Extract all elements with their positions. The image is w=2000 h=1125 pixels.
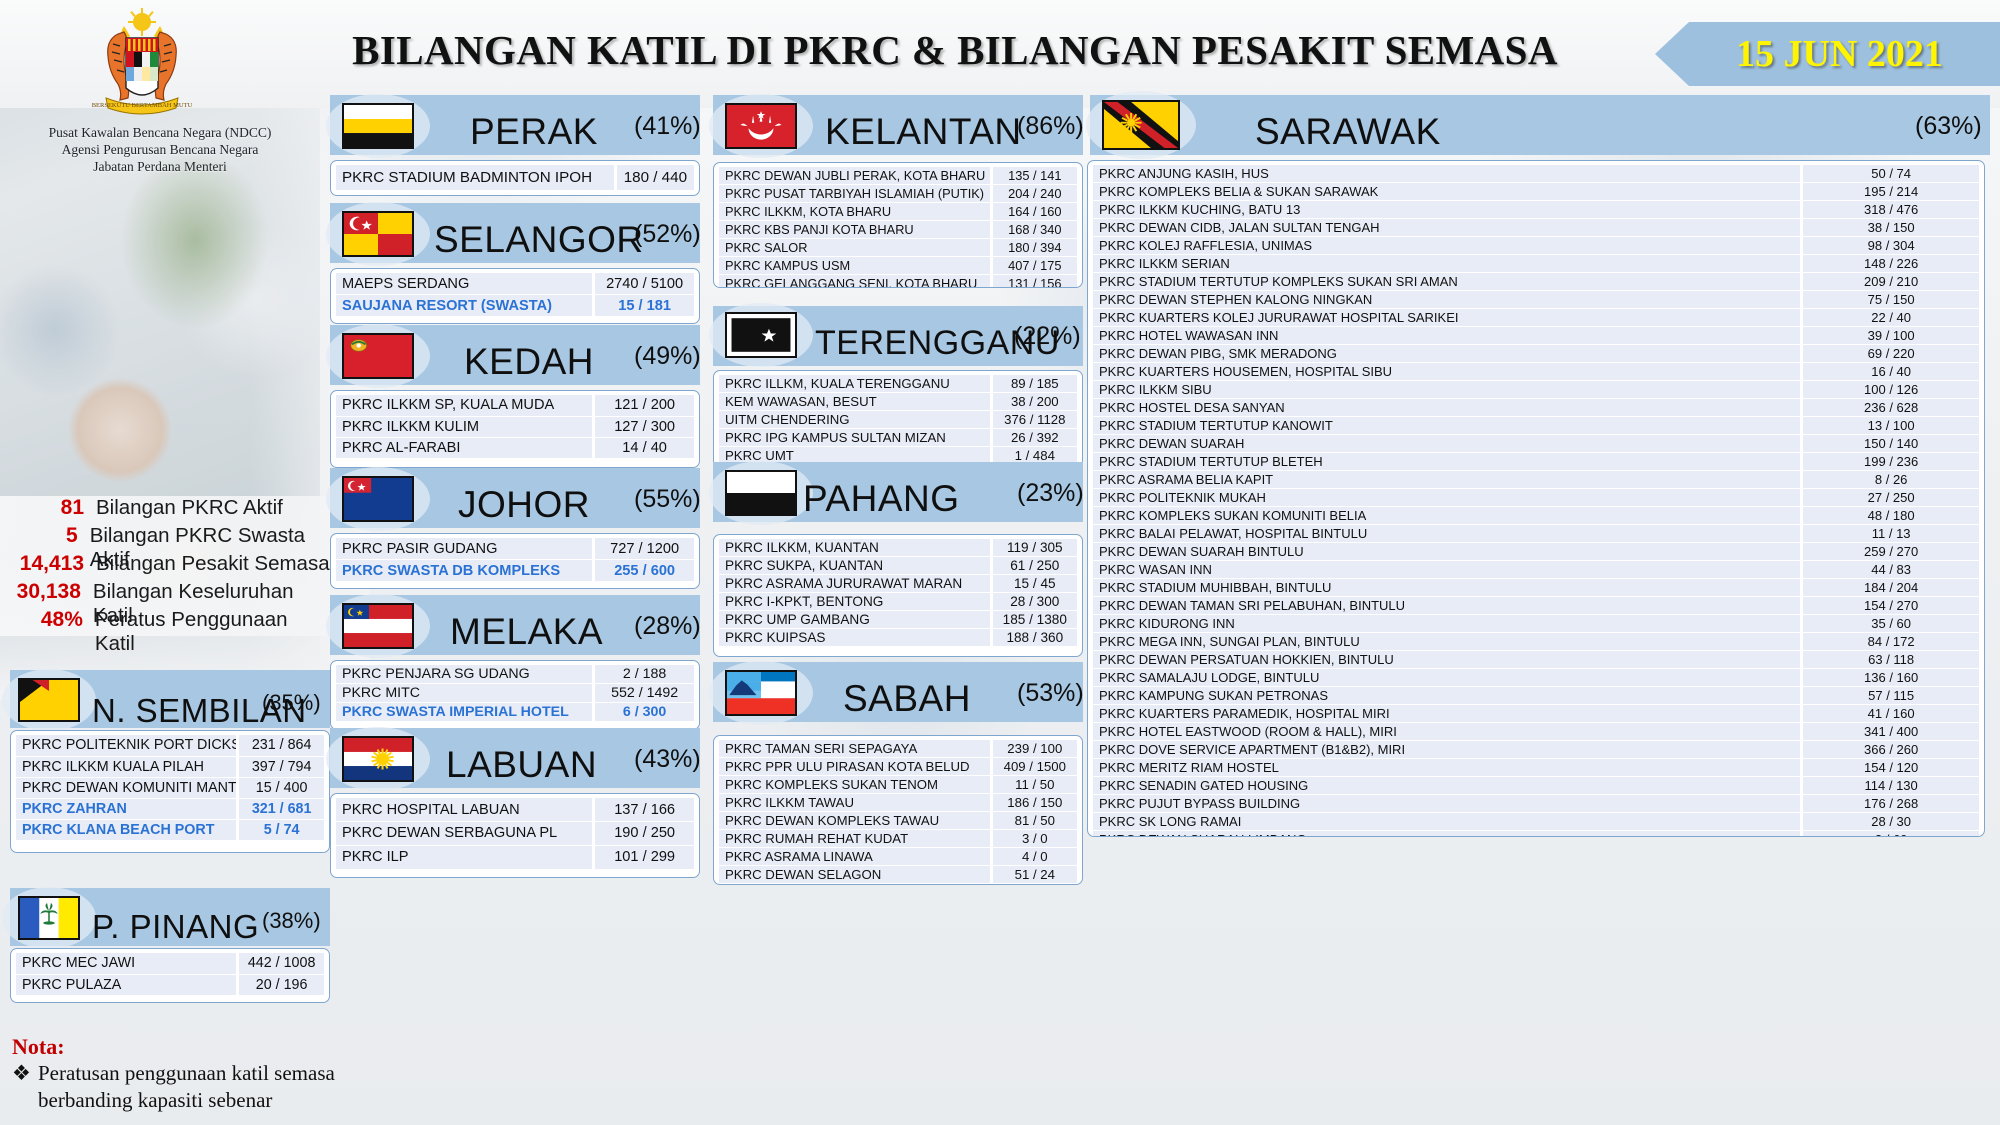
state-name-johor: JOHOR: [458, 475, 590, 535]
note-text: Peratusan penggunaan katil semasa berban…: [12, 1060, 342, 1114]
facility-name: PKRC KOMPLEKS BELIA & SUKAN SARAWAK: [1093, 183, 1802, 201]
facility-name: PKRC DEWAN KOMPLEKS TAWAU: [719, 812, 991, 830]
state-percent-selangor: (52%): [634, 220, 701, 249]
stat-row: 30,138 Bilangan Keseluruhan Katil: [0, 580, 330, 608]
facility-occupancy: 15 / 400: [238, 777, 324, 798]
facility-occupancy: 100 / 126: [1802, 381, 1979, 399]
facility-table-n_sembilan: PKRC POLITEKNIK PORT DICKSON231 / 864PKR…: [10, 730, 330, 853]
state-percent-n_sembilan: (35%): [262, 690, 321, 716]
facility-occupancy: 44 / 83: [1802, 561, 1979, 579]
table-row: PKRC BALAI PELAWAT, HOSPITAL BINTULU11 /…: [1093, 525, 1979, 543]
facility-name: PKRC MEC JAWI: [16, 953, 238, 974]
facility-name: PKRC HOTEL EASTWOOD (ROOM & HALL), MIRI: [1093, 723, 1802, 741]
facility-name: PKRC POLITEKNIK MUKAH: [1093, 489, 1802, 507]
table-row: PKRC KOMPLEKS SUKAN TENOM11 / 50: [719, 776, 1077, 794]
facility-name: SAUJANA RESORT (SWASTA): [336, 295, 594, 317]
facility-name: PKRC SK LONG RAMAI: [1093, 813, 1802, 831]
facility-name: PKRC KUARTERS HOUSEMEN, HOSPITAL SIBU: [1093, 363, 1802, 381]
facility-name: PKRC KOMPLEKS SUKAN KOMUNITI BELIA: [1093, 507, 1802, 525]
facility-occupancy: 186 / 150: [991, 794, 1077, 812]
facility-occupancy: 38 / 200: [991, 393, 1077, 411]
facility-name: PKRC ZAHRAN: [16, 798, 238, 819]
state-percent-sarawak: (63%): [1915, 112, 1982, 141]
table-row: PKRC ILKKM SERIAN148 / 226: [1093, 255, 1979, 273]
facility-occupancy: 75 / 150: [1802, 291, 1979, 309]
facility-name: PKRC ANJUNG KASIH, HUS: [1093, 165, 1802, 183]
facility-occupancy: 231 / 864: [238, 735, 324, 756]
table-row: SAUJANA RESORT (SWASTA)15 / 181: [336, 295, 694, 317]
table-row: PKRC PUJUT BYPASS BUILDING176 / 268: [1093, 795, 1979, 813]
facility-name: PKRC DEWAN TAMAN SRI PELABUHAN, BINTULU: [1093, 597, 1802, 615]
stat-value: 48%: [0, 608, 95, 632]
facility-occupancy: 397 / 794: [238, 756, 324, 777]
state-name-kelantan: KELANTAN: [825, 102, 1022, 162]
facility-occupancy: 15 / 45: [991, 575, 1077, 593]
table-row: PKRC HOSPITAL LABUAN137 / 166: [336, 798, 694, 822]
stat-row: 5 Bilangan PKRC Swasta Aktif: [0, 524, 330, 552]
table-row: PKRC KOMPLEKS SUKAN KOMUNITI BELIA48 / 1…: [1093, 507, 1979, 525]
state-name-sabah: SABAH: [843, 669, 971, 729]
facility-occupancy: 154 / 120: [1802, 759, 1979, 777]
facility-table-perak: PKRC STADIUM BADMINTON IPOH180 / 440: [330, 160, 700, 196]
table-row: PKRC POLITEKNIK PORT DICKSON231 / 864: [16, 735, 324, 756]
facility-occupancy: 13 / 100: [1802, 417, 1979, 435]
stat-value: 5: [0, 524, 90, 548]
facility-name: PKRC PPR ULU PIRASAN KOTA BELUD: [719, 758, 991, 776]
table-row: PKRC ILLKM, KUALA TERENGGANU89 / 185: [719, 375, 1077, 393]
table-row: PKRC KAMPUS USM407 / 175: [719, 257, 1077, 275]
facility-name: PKRC KOMPLEKS SUKAN TENOM: [719, 776, 991, 794]
facility-name: PKRC SAMALAJU LODGE, BINTULU: [1093, 669, 1802, 687]
facility-occupancy: 26 / 392: [991, 429, 1077, 447]
facility-name: PKRC KIDURONG INN: [1093, 615, 1802, 633]
page-title: BILANGAN KATIL DI PKRC & BILANGAN PESAKI…: [290, 26, 1620, 74]
facility-occupancy: 48 / 180: [1802, 507, 1979, 525]
facility-name: PKRC ILLKM, KUALA TERENGGANU: [719, 375, 991, 393]
facility-name: PKRC ASRAMA LINAWA: [719, 848, 991, 866]
facility-occupancy: 190 / 250: [594, 822, 694, 846]
table-row: PKRC RUMAH REHAT KUDAT3 / 0: [719, 830, 1077, 848]
note-title: Nota:: [12, 1034, 65, 1060]
organisation-lines: Pusat Kawalan Bencana Negara (NDCC) Agen…: [10, 124, 310, 175]
table-row: PKRC KOMPLEKS BELIA & SUKAN SARAWAK195 /…: [1093, 183, 1979, 201]
table-row: PKRC ASRAMA BELIA KAPIT8 / 26: [1093, 471, 1979, 489]
table-row: PKRC MERITZ RIAM HOSTEL154 / 120: [1093, 759, 1979, 777]
stat-value: 14,413: [0, 552, 96, 576]
facility-occupancy: 89 / 185: [991, 375, 1077, 393]
facility-occupancy: 552 / 1492: [594, 684, 694, 703]
facility-name: PKRC ILKKM SP, KUALA MUDA: [336, 395, 594, 416]
table-row: PKRC HOSTEL DESA SANYAN236 / 628: [1093, 399, 1979, 417]
facility-occupancy: 14 / 40: [594, 437, 694, 458]
facility-occupancy: 199 / 236: [1802, 453, 1979, 471]
facility-name: PKRC DEWAN KOMUNITI MANTIN: [16, 777, 238, 798]
table-row: PKRC ILKKM KUCHING, BATU 13318 / 476: [1093, 201, 1979, 219]
facility-occupancy: 259 / 270: [1802, 543, 1979, 561]
table-row: PKRC PENJARA SG UDANG2 / 188: [336, 665, 694, 684]
stat-label: Peratus Penggunaan Katil: [95, 608, 330, 656]
facility-occupancy: 84 / 172: [1802, 633, 1979, 651]
facility-name: PKRC DEWAN CIDB, JALAN SULTAN TENGAH: [1093, 219, 1802, 237]
diamond-bullet-icon: ❖: [12, 1060, 31, 1087]
facility-occupancy: 318 / 476: [1802, 201, 1979, 219]
table-row: PKRC GELANGGANG SENI, KOTA BHARU131 / 15…: [719, 275, 1077, 288]
facility-occupancy: 366 / 260: [1802, 741, 1979, 759]
facility-occupancy: 2 / 60: [1802, 831, 1979, 837]
facility-occupancy: 28 / 300: [991, 593, 1077, 611]
facility-name: PKRC SENADIN GATED HOUSING: [1093, 777, 1802, 795]
table-row: PKRC ASRAMA LINAWA4 / 0: [719, 848, 1077, 866]
table-row: PKRC SALOR180 / 394: [719, 239, 1077, 257]
facility-table-p_pinang: PKRC MEC JAWI442 / 1008PKRC PULAZA20 / 1…: [10, 948, 330, 1003]
facility-name: PKRC KBS PANJI KOTA BHARU: [719, 221, 991, 239]
facility-name: PKRC MEGA INN, SUNGAI PLAN, BINTULU: [1093, 633, 1802, 651]
facility-occupancy: 22 / 40: [1802, 309, 1979, 327]
facility-name: PKRC DEWAN PERSATUAN HOKKIEN, BINTULU: [1093, 651, 1802, 669]
facility-name: PKRC KLANA BEACH PORT: [16, 819, 238, 840]
table-row: PKRC DEWAN PERSATUAN HOKKIEN, BINTULU63 …: [1093, 651, 1979, 669]
facility-occupancy: 236 / 628: [1802, 399, 1979, 417]
facility-name: PKRC KOLEJ RAFFLESIA, UNIMAS: [1093, 237, 1802, 255]
facility-occupancy: 101 / 299: [594, 845, 694, 869]
facility-occupancy: 409 / 1500: [991, 758, 1077, 776]
facility-occupancy: 20 / 196: [238, 974, 324, 995]
facility-occupancy: 3 / 0: [991, 830, 1077, 848]
table-row: PKRC DEWAN STEPHEN KALONG NINGKAN75 / 15…: [1093, 291, 1979, 309]
stat-row: 14,413 Bilangan Pesakit Semasa: [0, 552, 330, 580]
facility-name: PKRC PENJARA SG UDANG: [336, 665, 594, 684]
facility-name: PKRC AL-FARABI: [336, 437, 594, 458]
facility-occupancy: 195 / 214: [1802, 183, 1979, 201]
facility-name: PKRC ILKKM, KOTA BHARU: [719, 203, 991, 221]
facility-occupancy: 154 / 270: [1802, 597, 1979, 615]
facility-name: PKRC POLITEKNIK PORT DICKSON: [16, 735, 238, 756]
facility-name: PKRC STADIUM TERTUTUP KOMPLEKS SUKAN SRI…: [1093, 273, 1802, 291]
facility-name: PKRC DOVE SERVICE APARTMENT (B1&B2), MIR…: [1093, 741, 1802, 759]
facility-occupancy: 148 / 226: [1802, 255, 1979, 273]
table-row: PKRC SWASTA IMPERIAL HOTEL6 / 300: [336, 703, 694, 722]
facility-occupancy: 2740 / 5100: [594, 273, 694, 295]
state-percent-perak: (41%): [634, 112, 701, 141]
table-row: PKRC DEWAN SUARAH BINTULU259 / 270: [1093, 543, 1979, 561]
facility-occupancy: 137 / 166: [594, 798, 694, 822]
table-row: PKRC STADIUM BADMINTON IPOH180 / 440: [336, 165, 694, 190]
facility-occupancy: 135 / 141: [991, 167, 1077, 185]
table-row: PKRC KUARTERS HOUSEMEN, HOSPITAL SIBU16 …: [1093, 363, 1979, 381]
facility-occupancy: 4 / 0: [991, 848, 1077, 866]
date-ribbon: 15 JUN 2021: [1655, 22, 2000, 86]
facility-name: PKRC DEWAN SELAGON: [719, 866, 991, 884]
table-row: PKRC ILKKM, KOTA BHARU164 / 160: [719, 203, 1077, 221]
pahang-flag-icon: [725, 470, 797, 516]
facility-name: PKRC PULAZA: [16, 974, 238, 995]
table-row: PKRC SK LONG RAMAI28 / 30: [1093, 813, 1979, 831]
facility-name: PKRC HOSPITAL LABUAN: [336, 798, 594, 822]
kelantan-flag-icon: [725, 103, 797, 149]
table-row: PKRC SENADIN GATED HOUSING114 / 130: [1093, 777, 1979, 795]
facility-occupancy: 119 / 305: [991, 539, 1077, 557]
facility-occupancy: 2 / 188: [594, 665, 694, 684]
sabah-flag-icon: [725, 670, 797, 716]
state-percent-kedah: (49%): [634, 342, 701, 371]
facility-name: PKRC ILKKM SIBU: [1093, 381, 1802, 399]
facility-name: PKRC WASAN INN: [1093, 561, 1802, 579]
state-name-labuan: LABUAN: [446, 735, 597, 795]
table-row: PKRC DEWAN SELAGON51 / 24: [719, 866, 1077, 884]
table-row: PKRC KBS PANJI KOTA BHARU168 / 340: [719, 221, 1077, 239]
table-row: PKRC ILKKM SP, KUALA MUDA121 / 200: [336, 395, 694, 416]
facility-table-kelantan: PKRC DEWAN JUBLI PERAK, KOTA BHARU135 / …: [713, 162, 1083, 288]
table-row: PKRC MEC JAWI442 / 1008: [16, 953, 324, 974]
table-row: PKRC STADIUM TERTUTUP BLETEH199 / 236: [1093, 453, 1979, 471]
facility-occupancy: 131 / 156: [991, 275, 1077, 288]
table-row: UITM CHENDERING376 / 1128: [719, 411, 1077, 429]
table-row: PKRC STADIUM TERTUTUP KANOWIT13 / 100: [1093, 417, 1979, 435]
state-name-kedah: KEDAH: [464, 332, 594, 392]
stat-label: Bilangan PKRC Aktif: [96, 496, 283, 520]
note-body: ❖ Peratusan penggunaan katil semasa berb…: [12, 1060, 342, 1114]
state-percent-kelantan: (86%): [1017, 112, 1084, 141]
facility-name: PKRC BALAI PELAWAT, HOSPITAL BINTULU: [1093, 525, 1802, 543]
state-name-sarawak: SARAWAK: [1255, 102, 1441, 162]
table-row: PKRC DEWAN SUARAH150 / 140: [1093, 435, 1979, 453]
facility-name: PKRC ILKKM, KUANTAN: [719, 539, 991, 557]
facility-occupancy: 442 / 1008: [238, 953, 324, 974]
facility-name: PKRC RUMAH REHAT KUDAT: [719, 830, 991, 848]
table-row: PKRC KUARTERS KOLEJ JURURAWAT HOSPITAL S…: [1093, 309, 1979, 327]
facility-occupancy: 41 / 160: [1802, 705, 1979, 723]
state-name-perak: PERAK: [470, 102, 598, 162]
facility-name: PKRC KAMPUNG SUKAN PETRONAS: [1093, 687, 1802, 705]
table-row: PKRC PPR ULU PIRASAN KOTA BELUD409 / 150…: [719, 758, 1077, 776]
stat-value: 81: [0, 496, 96, 520]
facility-table-selangor: MAEPS SERDANG2740 / 5100SAUJANA RESORT (…: [330, 268, 700, 324]
table-row: PKRC TAMAN SERI SEPAGAYA239 / 100: [719, 740, 1077, 758]
stat-label: Bilangan Pesakit Semasa: [96, 552, 330, 576]
table-row: PKRC IPG KAMPUS SULTAN MIZAN26 / 392: [719, 429, 1077, 447]
facility-occupancy: 180 / 440: [615, 165, 694, 190]
facility-occupancy: 168 / 340: [991, 221, 1077, 239]
facility-name: PKRC KUARTERS KOLEJ JURURAWAT HOSPITAL S…: [1093, 309, 1802, 327]
facility-name: PKRC KUIPSAS: [719, 629, 991, 647]
table-row: PKRC DEWAN KOMPLEKS TAWAU81 / 50: [719, 812, 1077, 830]
facility-name: PKRC SWASTA IMPERIAL HOTEL: [336, 703, 594, 722]
facility-occupancy: 27 / 250: [1802, 489, 1979, 507]
facility-occupancy: 11 / 13: [1802, 525, 1979, 543]
facility-occupancy: 121 / 200: [594, 395, 694, 416]
table-row: PKRC DEWAN JUBLI PERAK, KOTA BHARU135 / …: [719, 167, 1077, 185]
facility-name: PKRC KUARTERS PARAMEDIK, HOSPITAL MIRI: [1093, 705, 1802, 723]
table-row: PKRC PASIR GUDANG727 / 1200: [336, 538, 694, 560]
facility-occupancy: 57 / 115: [1802, 687, 1979, 705]
table-row: PKRC ZAHRAN321 / 681: [16, 798, 324, 819]
table-row: PKRC UMP GAMBANG185 / 1380: [719, 611, 1077, 629]
selangor-flag-icon: [342, 211, 414, 257]
facility-occupancy: 69 / 220: [1802, 345, 1979, 363]
state-percent-johor: (55%): [634, 485, 701, 514]
facility-occupancy: 38 / 150: [1802, 219, 1979, 237]
facility-occupancy: 28 / 30: [1802, 813, 1979, 831]
table-row: PKRC KUIPSAS188 / 360: [719, 629, 1077, 647]
terengganu-flag-icon: [725, 312, 797, 358]
facility-name: PKRC SUKPA, KUANTAN: [719, 557, 991, 575]
table-row: PKRC POLITEKNIK MUKAH27 / 250: [1093, 489, 1979, 507]
state-name-melaka: MELAKA: [450, 602, 603, 662]
table-row: PKRC ILP101 / 299: [336, 845, 694, 869]
pulau-pinang-flag-icon: [18, 896, 80, 940]
facility-name: PKRC STADIUM BADMINTON IPOH: [336, 165, 615, 190]
facility-occupancy: 185 / 1380: [991, 611, 1077, 629]
facility-name: PKRC ILKKM KUALA PILAH: [16, 756, 238, 777]
facility-name: PKRC STADIUM MUHIBBAH, BINTULU: [1093, 579, 1802, 597]
facility-name: PKRC HOTEL WAWASAN INN: [1093, 327, 1802, 345]
stat-value: 30,138: [0, 580, 93, 604]
facility-occupancy: 727 / 1200: [594, 538, 694, 560]
facility-occupancy: 5 / 74: [238, 819, 324, 840]
org-line-2: Agensi Pengurusan Bencana Negara: [10, 141, 310, 158]
table-row: PKRC DEWAN SERBAGUNA PL190 / 250: [336, 822, 694, 846]
table-row: PKRC AL-FARABI14 / 40: [336, 437, 694, 458]
facility-occupancy: 239 / 100: [991, 740, 1077, 758]
johor-flag-icon: [342, 476, 414, 522]
facility-occupancy: 114 / 130: [1802, 777, 1979, 795]
negeri-sembilan-flag-icon: [18, 678, 80, 722]
facility-occupancy: 341 / 400: [1802, 723, 1979, 741]
table-row: PKRC WASAN INN44 / 83: [1093, 561, 1979, 579]
facility-occupancy: 6 / 300: [594, 703, 694, 722]
org-line-3: Jabatan Perdana Menteri: [10, 158, 310, 175]
facility-name: PKRC I-KPKT, BENTONG: [719, 593, 991, 611]
facility-table-sarawak: PKRC ANJUNG KASIH, HUS50 / 74PKRC KOMPLE…: [1087, 160, 1985, 837]
facility-name: MAEPS SERDANG: [336, 273, 594, 295]
facility-name: PKRC ILKKM KULIM: [336, 416, 594, 437]
table-row: PKRC MEGA INN, SUNGAI PLAN, BINTULU84 / …: [1093, 633, 1979, 651]
table-row: PKRC HOTEL EASTWOOD (ROOM & HALL), MIRI3…: [1093, 723, 1979, 741]
page-header: BILANGAN KATIL DI PKRC & BILANGAN PESAKI…: [0, 0, 2000, 108]
perak-flag-icon: [342, 103, 414, 149]
facility-occupancy: 164 / 160: [991, 203, 1077, 221]
facility-occupancy: 184 / 204: [1802, 579, 1979, 597]
facility-name: PKRC TAMAN SERI SEPAGAYA: [719, 740, 991, 758]
facility-occupancy: 188 / 360: [991, 629, 1077, 647]
table-row: PKRC KLANA BEACH PORT5 / 74: [16, 819, 324, 840]
sarawak-flag-icon: [1102, 100, 1180, 150]
facility-occupancy: 407 / 175: [991, 257, 1077, 275]
table-row: PKRC DEWAN PIBG, SMK MERADONG69 / 220: [1093, 345, 1979, 363]
table-row: PKRC ILKKM SIBU100 / 126: [1093, 381, 1979, 399]
facility-name: PKRC DEWAN SUARAH LIMBANG: [1093, 831, 1802, 837]
facility-name: PKRC DEWAN SUARAH: [1093, 435, 1802, 453]
melaka-flag-icon: [342, 603, 414, 649]
table-row: PKRC STADIUM TERTUTUP KOMPLEKS SUKAN SRI…: [1093, 273, 1979, 291]
facility-name: PKRC MERITZ RIAM HOSTEL: [1093, 759, 1802, 777]
table-row: PKRC DEWAN SUARAH LIMBANG2 / 60: [1093, 831, 1979, 837]
facility-name: PKRC STADIUM TERTUTUP KANOWIT: [1093, 417, 1802, 435]
summary-stats: 81 Bilangan PKRC Aktif 5 Bilangan PKRC S…: [0, 496, 330, 636]
facility-name: PKRC ASRAMA BELIA KAPIT: [1093, 471, 1802, 489]
table-row: PKRC SUKPA, KUANTAN61 / 250: [719, 557, 1077, 575]
facility-occupancy: 39 / 100: [1802, 327, 1979, 345]
facility-name: PKRC KAMPUS USM: [719, 257, 991, 275]
facility-occupancy: 63 / 118: [1802, 651, 1979, 669]
facility-name: PKRC DEWAN SUARAH BINTULU: [1093, 543, 1802, 561]
facility-name: PKRC HOSTEL DESA SANYAN: [1093, 399, 1802, 417]
table-row: PKRC ILKKM TAWAU186 / 150: [719, 794, 1077, 812]
table-row: PKRC ILKKM, KUANTAN119 / 305: [719, 539, 1077, 557]
facility-name: PKRC SALOR: [719, 239, 991, 257]
table-row: PKRC ASRAMA JURURAWAT MARAN15 / 45: [719, 575, 1077, 593]
facility-occupancy: 35 / 60: [1802, 615, 1979, 633]
facility-occupancy: 180 / 394: [991, 239, 1077, 257]
table-row: PKRC SAMALAJU LODGE, BINTULU136 / 160: [1093, 669, 1979, 687]
facility-occupancy: 321 / 681: [238, 798, 324, 819]
state-percent-pahang: (23%): [1017, 479, 1084, 508]
state-percent-melaka: (28%): [634, 612, 701, 641]
facility-occupancy: 15 / 181: [594, 295, 694, 317]
facility-name: PKRC ILKKM TAWAU: [719, 794, 991, 812]
facility-occupancy: 376 / 1128: [991, 411, 1077, 429]
stat-row: 81 Bilangan PKRC Aktif: [0, 496, 330, 524]
table-row: PKRC DEWAN TAMAN SRI PELABUHAN, BINTULU1…: [1093, 597, 1979, 615]
table-row: PKRC I-KPKT, BENTONG28 / 300: [719, 593, 1077, 611]
facility-occupancy: 81 / 50: [991, 812, 1077, 830]
table-row: PKRC DOVE SERVICE APARTMENT (B1&B2), MIR…: [1093, 741, 1979, 759]
facility-table-pahang: PKRC ILKKM, KUANTAN119 / 305PKRC SUKPA, …: [713, 534, 1083, 657]
table-row: PKRC KUARTERS PARAMEDIK, HOSPITAL MIRI41…: [1093, 705, 1979, 723]
state-percent-labuan: (43%): [634, 745, 701, 774]
table-row: PKRC DEWAN CIDB, JALAN SULTAN TENGAH38 /…: [1093, 219, 1979, 237]
table-row: PKRC KIDURONG INN35 / 60: [1093, 615, 1979, 633]
facility-occupancy: 61 / 250: [991, 557, 1077, 575]
table-row: PKRC SWASTA DB KOMPLEKS255 / 600: [336, 560, 694, 582]
facility-table-terengganu: PKRC ILLKM, KUALA TERENGGANU89 / 185KEM …: [713, 370, 1083, 468]
table-row: PKRC STADIUM MUHIBBAH, BINTULU184 / 204: [1093, 579, 1979, 597]
facility-name: PKRC PASIR GUDANG: [336, 538, 594, 560]
facility-name: PKRC DEWAN STEPHEN KALONG NINGKAN: [1093, 291, 1802, 309]
table-row: PKRC HOTEL WAWASAN INN39 / 100: [1093, 327, 1979, 345]
facility-name: UITM CHENDERING: [719, 411, 991, 429]
facility-occupancy: 11 / 50: [991, 776, 1077, 794]
facility-name: PKRC PUJUT BYPASS BUILDING: [1093, 795, 1802, 813]
facility-occupancy: 204 / 240: [991, 185, 1077, 203]
table-row: PKRC PUSAT TARBIYAH ISLAMIAH (PUTIK)204 …: [719, 185, 1077, 203]
photo-foliage: [120, 150, 270, 330]
facility-table-kedah: PKRC ILKKM SP, KUALA MUDA121 / 200PKRC I…: [330, 390, 700, 468]
facility-name: PKRC IPG KAMPUS SULTAN MIZAN: [719, 429, 991, 447]
org-line-1: Pusat Kawalan Bencana Negara (NDCC): [10, 124, 310, 141]
facility-occupancy: 176 / 268: [1802, 795, 1979, 813]
state-percent-p_pinang: (38%): [262, 908, 321, 934]
labuan-flag-icon: [342, 736, 414, 782]
table-row: PKRC ILKKM KUALA PILAH397 / 794: [16, 756, 324, 777]
facility-occupancy: 255 / 600: [594, 560, 694, 582]
facility-name: PKRC ILKKM SERIAN: [1093, 255, 1802, 273]
facility-name: PKRC SWASTA DB KOMPLEKS: [336, 560, 594, 582]
state-name-pahang: PAHANG: [803, 469, 960, 529]
table-row: PKRC KAMPUNG SUKAN PETRONAS57 / 115: [1093, 687, 1979, 705]
facility-occupancy: 16 / 40: [1802, 363, 1979, 381]
facility-occupancy: 8 / 26: [1802, 471, 1979, 489]
table-row: PKRC ANJUNG KASIH, HUS50 / 74: [1093, 165, 1979, 183]
facility-name: PKRC DEWAN SERBAGUNA PL: [336, 822, 594, 846]
facility-name: PKRC DEWAN PIBG, SMK MERADONG: [1093, 345, 1802, 363]
facility-name: PKRC ASRAMA JURURAWAT MARAN: [719, 575, 991, 593]
facility-name: PKRC PUSAT TARBIYAH ISLAMIAH (PUTIK): [719, 185, 991, 203]
facility-name: PKRC ILKKM KUCHING, BATU 13: [1093, 201, 1802, 219]
state-name-selangor: SELANGOR: [434, 210, 644, 270]
facility-occupancy: 98 / 304: [1802, 237, 1979, 255]
facility-name: PKRC ILP: [336, 845, 594, 869]
